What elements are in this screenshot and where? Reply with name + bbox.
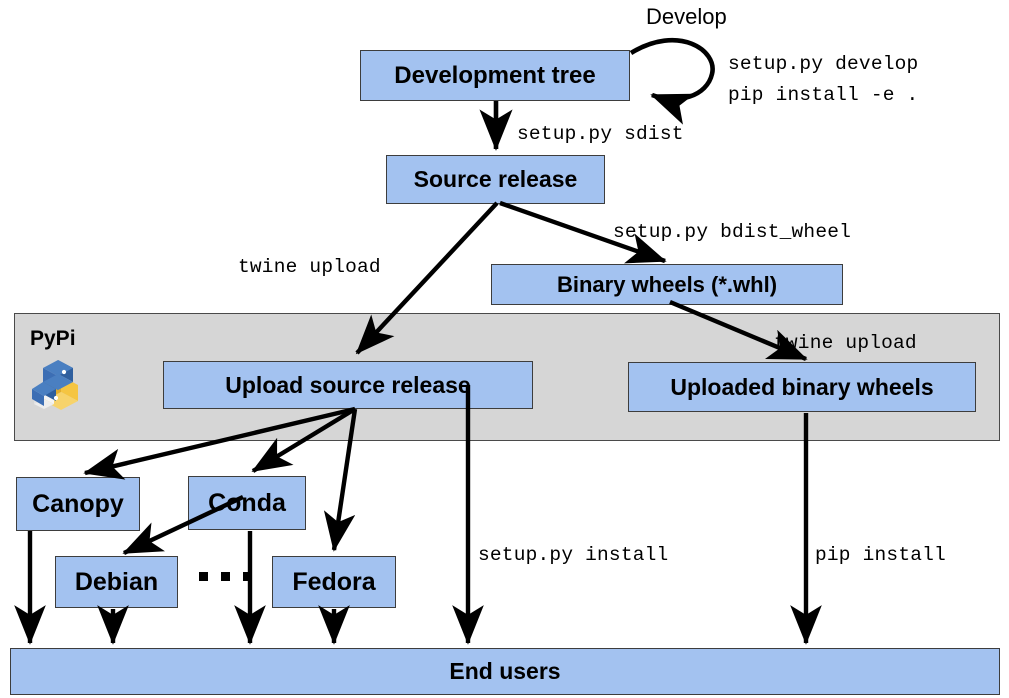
label-setup-py-bdist-wheel: setup.py bdist_wheel [613,221,851,243]
edge-upload-source-to-canopy [85,409,355,473]
label-develop: Develop [646,4,727,30]
edge-upload-source-to-fedora [334,409,355,550]
edge-source-to-upload-source [357,203,497,353]
label-pip-install-editable: pip install -e . [728,84,918,106]
pypi-region-label: PyPi [30,327,76,351]
label-setup-py-install: setup.py install [478,544,668,566]
edge-conda-to-debian [124,497,243,553]
edge-develop-selfloop [631,40,713,99]
label-setup-py-develop: setup.py develop [728,53,918,75]
label-setup-py-sdist: setup.py sdist [517,123,684,145]
diagram-canvas: PyPi Development tree Sourc [0,0,1009,698]
ellipsis-indicator [199,572,252,581]
label-twine-upload-wheels: twine upload [774,332,917,354]
edge-upload-source-to-conda [253,409,355,471]
label-twine-upload-source: twine upload [238,256,381,278]
python-isometric-logo [28,356,90,416]
label-pip-install: pip install [815,544,946,566]
